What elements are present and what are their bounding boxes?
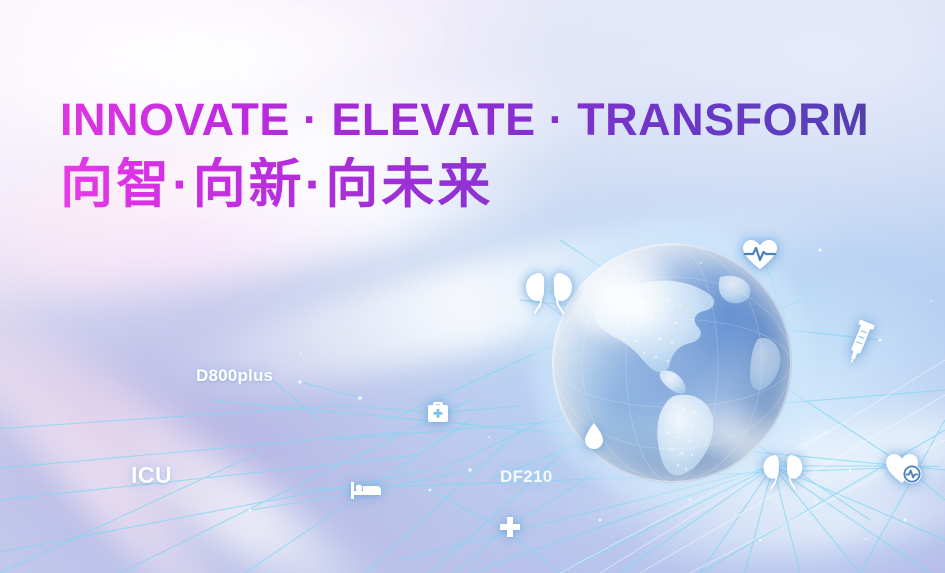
syringe-icon: [845, 318, 875, 364]
medical-bag-icon: [426, 400, 450, 424]
water-drop-icon: [583, 422, 605, 450]
kidneys-icon: [523, 270, 575, 316]
sparkle: [610, 290, 613, 293]
product-label-d800plus: D800plus: [196, 366, 273, 386]
sparkle: [815, 500, 818, 503]
headline-chinese: 向智·向新·向未来: [60, 157, 900, 213]
heart-ecg-icon: [885, 452, 923, 486]
product-label-icu: ICU: [131, 462, 172, 489]
heart-pulse-icon: [742, 239, 778, 271]
sparkle: [700, 262, 702, 264]
sparkle: [300, 352, 302, 354]
headline-english: INNOVATE · ELEVATE · TRANSFORM: [60, 96, 900, 143]
sparkle: [488, 436, 490, 438]
sparkle: [865, 538, 867, 540]
sparkle: [930, 300, 932, 302]
headline-block: INNOVATE · ELEVATE · TRANSFORM 向智·向新·向未来: [60, 96, 900, 213]
hospital-bed-icon: [350, 479, 382, 501]
product-label-df210: DF210: [500, 467, 553, 487]
marketing-banner: INNOVATE · ELEVATE · TRANSFORM 向智·向新·向未来…: [0, 0, 945, 573]
medical-cross-icon: [499, 516, 521, 538]
kidneys-icon: [761, 452, 805, 492]
